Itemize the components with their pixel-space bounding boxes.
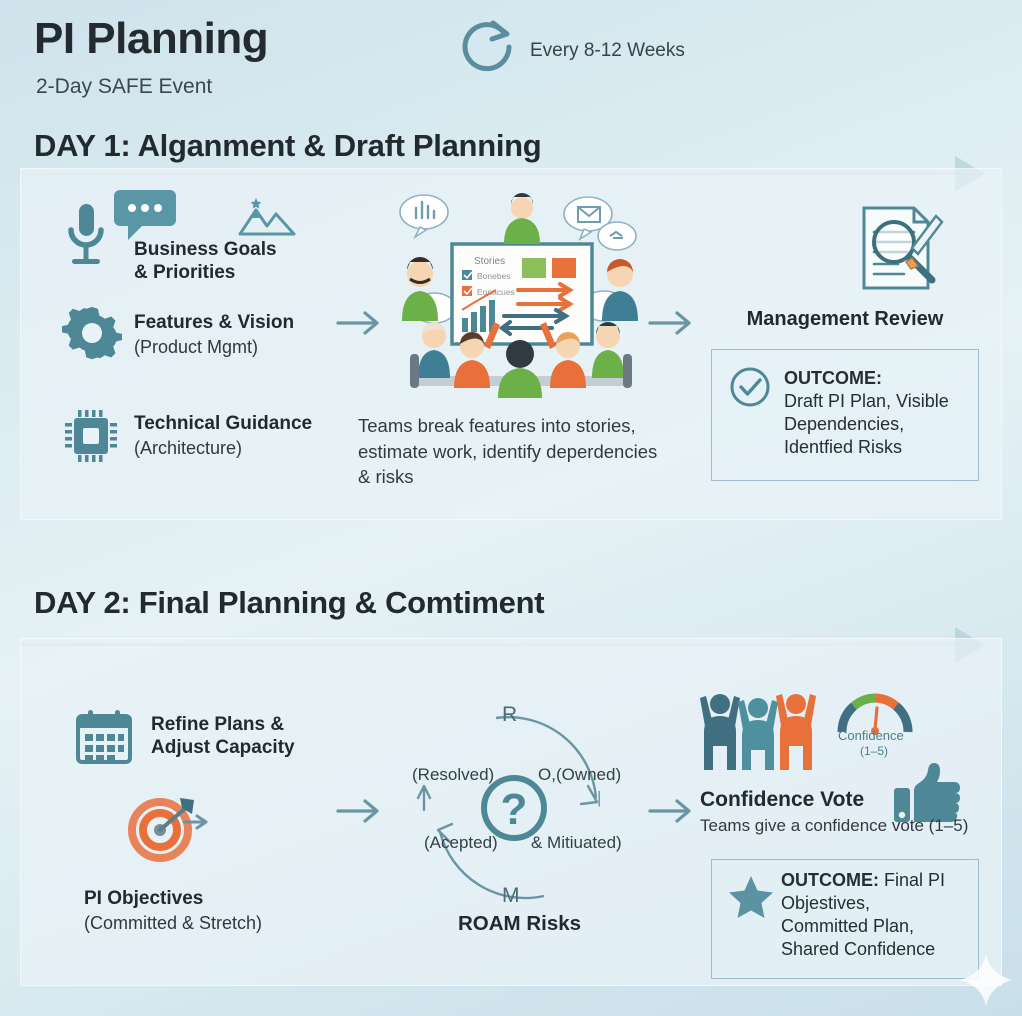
day2-input-0-line2: Adjust Capacity (151, 737, 295, 758)
svg-text:?: ? (501, 785, 528, 834)
confidence-vote-label: Confidence Vote (700, 788, 864, 812)
day2-outcome-first-line-rest: Final PI (879, 870, 945, 890)
svg-text:Bonebes: Bonebes (477, 271, 511, 281)
gear-icon (62, 303, 122, 368)
day1-caption-line-1: Teams break features into stories, (358, 415, 636, 436)
microphone-icon (62, 200, 110, 277)
roam-label-mitigated: & Mitiuated) (531, 833, 622, 853)
day1-outcome-line-1: Draft PI Plan, Visible (784, 391, 949, 411)
day1-outcome-title: OUTCOME: (784, 368, 882, 388)
roam-tick-mark: | (597, 788, 601, 808)
day2-outcome-line-3: Shared Confidence (781, 939, 935, 959)
roam-letter-r: R (502, 703, 517, 727)
gauge-label: Confidence (838, 728, 904, 743)
roam-title: ROAM Risks (458, 912, 581, 936)
day1-heading: DAY 1: Alganment & Draft Planning (34, 128, 541, 164)
confidence-vote-sub: Teams give a confidence vote (1–5) (700, 816, 968, 836)
svg-text:Eonacues: Eonacues (477, 287, 515, 297)
day2-input-1-label: PI Objectives (84, 887, 203, 910)
day1-input-0-label: Business Goals & Priorities (134, 238, 374, 284)
day2-outcome-line-2: Committed Plan, (781, 916, 914, 936)
cycle-frequency-label: Every 8-12 Weeks (530, 40, 685, 62)
day2-heading: DAY 2: Final Planning & Comtiment (34, 585, 544, 621)
check-circle-icon (729, 366, 771, 413)
day1-input-0-line2: & Priorities (134, 262, 235, 283)
mountains-vision-icon (236, 196, 298, 243)
day1-flow-arrow-1 (336, 308, 384, 343)
day2-input-0-line1: Refine Plans & (151, 714, 284, 735)
day1-outcome-text: OUTCOME: Draft PI Plan, Visible Dependen… (784, 367, 974, 459)
target-arrow-icon (122, 788, 218, 871)
management-review-label: Management Review (711, 308, 979, 331)
day1-caption: Teams break features into stories, estim… (358, 413, 698, 490)
star-icon (727, 874, 775, 925)
roam-label-owned: O,(Owned) (538, 765, 621, 785)
day1-caption-line-3: & risks (358, 466, 414, 487)
page-title: PI Planning (34, 14, 268, 64)
day1-input-1-sub: (Product Mgmt) (134, 336, 258, 359)
day1-outcome-line-3: Identfied Risks (784, 437, 902, 457)
day2-outcome-line-1: Objestives, (781, 893, 870, 913)
svg-text:Stories: Stories (474, 256, 505, 267)
sparkle-icon (958, 952, 1014, 1008)
day1-input-2-label: Technical Guidance (134, 412, 312, 435)
microchip-icon (62, 408, 120, 469)
gauge-range-label: (1–5) (860, 744, 888, 758)
day1-flow-arrow-2 (648, 308, 696, 343)
day2-outcome-text: OUTCOME: Final PI Objestives, Committed … (781, 869, 977, 961)
day1-input-1-label: Features & Vision (134, 311, 294, 334)
document-magnifier-icon (852, 202, 948, 299)
roam-label-resolved: (Resolved) (412, 765, 494, 785)
day2-flow-arrow-1 (336, 796, 384, 831)
day2-input-1-sub: (Committed & Stretch) (84, 912, 262, 935)
circular-arrow-icon (455, 14, 521, 80)
day1-input-0-line1: Business Goals (134, 239, 277, 260)
calendar-icon (74, 708, 134, 771)
day2-flow-arrow-2 (648, 796, 696, 831)
cheering-people-icon (694, 676, 822, 779)
day1-input-2-sub: (Architecture) (134, 437, 242, 460)
day1-outcome-line-2: Dependencies, (784, 414, 904, 434)
infographic-canvas: PI Planning 2-Day SAFE Event Every 8-12 … (0, 0, 1022, 1016)
day1-caption-line-2: estimate work, identify deperdencies (358, 441, 657, 462)
day2-input-0-label: Refine Plans & Adjust Capacity (151, 713, 295, 759)
day2-outcome-title: OUTCOME: (781, 870, 879, 890)
team-meeting-illustration: $ Stories Bonebes Eonacues (392, 186, 648, 398)
roam-label-accepted: (Acepted) (424, 833, 498, 853)
page-subtitle: 2-Day SAFE Event (36, 75, 212, 99)
roam-letter-m: M (502, 884, 520, 908)
